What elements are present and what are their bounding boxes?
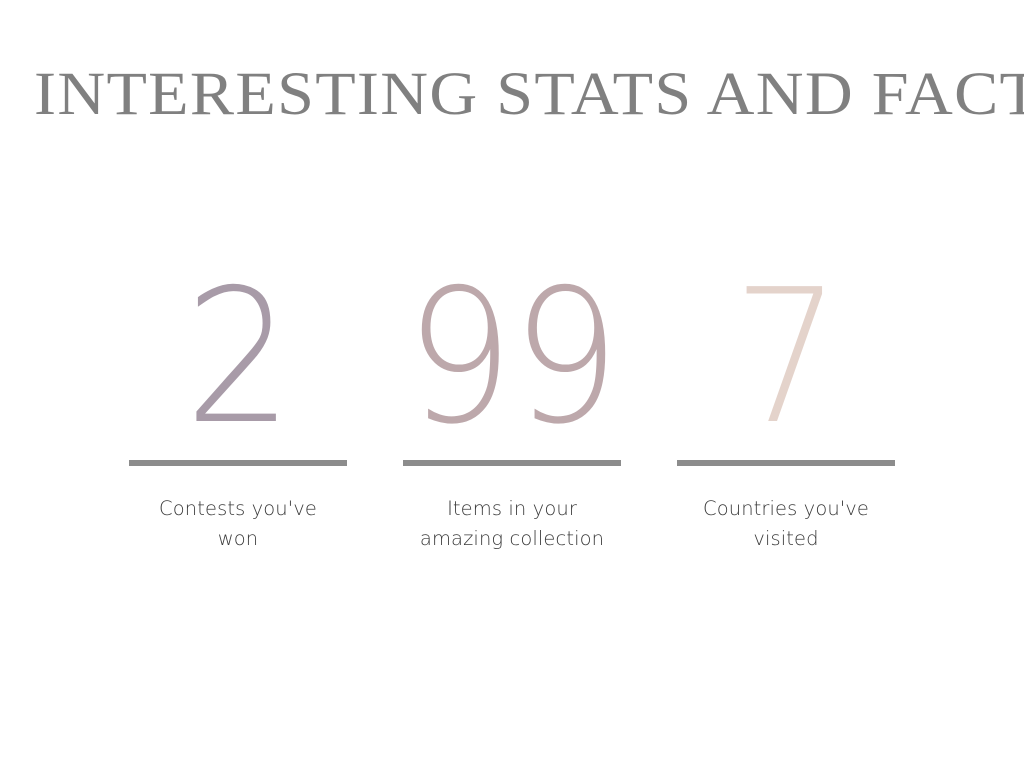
stat-item-countries: 7 Countries you've visited xyxy=(650,262,922,554)
stat-label-items-line2: amazing collection xyxy=(420,527,604,550)
page-title: INTERESTING STATS AND FACTS xyxy=(34,57,1024,137)
stat-number-countries: 7 xyxy=(733,262,839,432)
stat-label-countries-line1: Countries you've xyxy=(703,497,869,520)
stat-label-items: Items in your amazing collection xyxy=(397,494,627,554)
stat-item-items: 99 Items in your amazing collection xyxy=(376,262,648,554)
stat-label-contests-line1: Contests you've xyxy=(159,497,317,520)
stat-label-items-line1: Items in your xyxy=(447,497,577,520)
stat-label-contests-line2: won xyxy=(218,527,259,550)
stat-label-countries-line2: visited xyxy=(753,527,818,550)
stats-row: 2 Contests you've won 99 Items in your a… xyxy=(102,262,922,582)
stat-label-countries: Countries you've visited xyxy=(671,494,901,554)
stat-item-contests: 2 Contests you've won xyxy=(102,262,374,554)
stat-number-contests: 2 xyxy=(185,262,291,432)
stat-label-contests: Contests you've won xyxy=(123,494,353,554)
stat-number-items: 99 xyxy=(406,262,619,432)
slide-canvas: INTERESTING STATS AND FACTS 2 Contests y… xyxy=(0,0,1024,768)
